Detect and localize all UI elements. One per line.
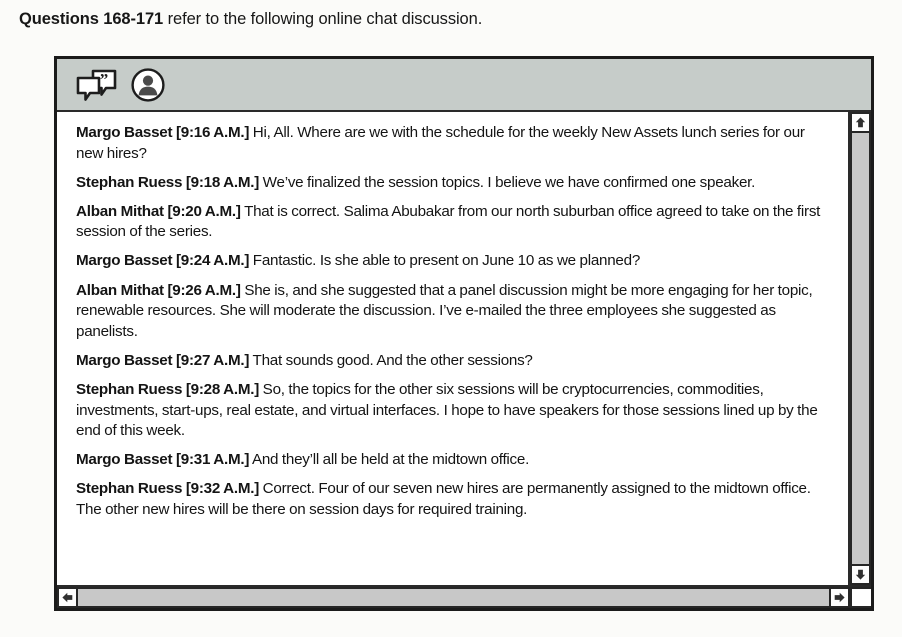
message-text: We’ve finalized the session topics. I be… (259, 174, 755, 191)
chat-message: Stephan Ruess [9:32 A.M.] Correct. Four … (76, 479, 832, 520)
vertical-scrollbar[interactable] (850, 112, 871, 585)
chat-message: Alban Mithat [9:20 A.M.] That is correct… (76, 202, 832, 243)
chat-message: Stephan Ruess [9:28 A.M.] So, the topics… (76, 380, 832, 442)
question-range-label: Questions 168-171 (19, 10, 163, 28)
chat-footer (57, 585, 871, 608)
message-sender-time: Margo Basset [9:27 A.M.] (76, 352, 249, 369)
chat-bubbles-icon[interactable]: ” (76, 69, 118, 101)
vertical-scroll-thumb[interactable] (852, 133, 869, 564)
scroll-left-arrow-icon[interactable] (57, 587, 78, 608)
message-text: That sounds good. And the other sessions… (249, 352, 532, 369)
message-sender-time: Alban Mithat [9:26 A.M.] (76, 282, 241, 299)
page-intro-text: Questions 168-171 refer to the following… (19, 9, 482, 29)
message-text: Fantastic. Is she able to present on Jun… (249, 252, 640, 269)
scan-bleed-artifact (600, 10, 605, 27)
chat-body: Margo Basset [9:16 A.M.] Hi, All. Where … (57, 112, 871, 585)
message-sender-time: Stephan Ruess [9:18 A.M.] (76, 174, 259, 191)
chat-message: Alban Mithat [9:26 A.M.] She is, and she… (76, 281, 832, 343)
message-sender-time: Stephan Ruess [9:32 A.M.] (76, 480, 259, 497)
scroll-right-arrow-icon[interactable] (829, 587, 850, 608)
message-sender-time: Margo Basset [9:31 A.M.] (76, 451, 249, 468)
chat-window: ” Margo Basset [9:16 A.M.] Hi, All. Wher… (54, 56, 874, 611)
horizontal-scroll-track[interactable] (78, 587, 829, 608)
intro-rest-text: refer to the following online chat discu… (163, 10, 482, 28)
chat-message: Stephan Ruess [9:18 A.M.] We’ve finalize… (76, 173, 832, 194)
horizontal-scrollbar[interactable] (57, 587, 850, 608)
message-sender-time: Margo Basset [9:16 A.M.] (76, 124, 249, 141)
user-avatar-icon[interactable] (130, 67, 166, 103)
chat-toolbar: ” (57, 59, 871, 112)
message-sender-time: Alban Mithat [9:20 A.M.] (76, 203, 241, 220)
vertical-scroll-track[interactable] (850, 133, 871, 564)
chat-message: Margo Basset [9:16 A.M.] Hi, All. Where … (76, 123, 832, 164)
scroll-down-arrow-icon[interactable] (850, 564, 871, 585)
chat-message: Margo Basset [9:27 A.M.] That sounds goo… (76, 351, 832, 372)
scrollbar-corner (850, 587, 871, 608)
message-text: And they’ll all be held at the midtown o… (249, 451, 529, 468)
scroll-up-arrow-icon[interactable] (850, 112, 871, 133)
message-sender-time: Margo Basset [9:24 A.M.] (76, 252, 249, 269)
svg-text:”: ” (100, 70, 109, 89)
message-sender-time: Stephan Ruess [9:28 A.M.] (76, 381, 259, 398)
chat-message: Margo Basset [9:31 A.M.] And they’ll all… (76, 450, 832, 471)
horizontal-scroll-thumb[interactable] (78, 589, 829, 606)
message-list[interactable]: Margo Basset [9:16 A.M.] Hi, All. Where … (57, 112, 850, 585)
chat-message: Margo Basset [9:24 A.M.] Fantastic. Is s… (76, 251, 832, 272)
